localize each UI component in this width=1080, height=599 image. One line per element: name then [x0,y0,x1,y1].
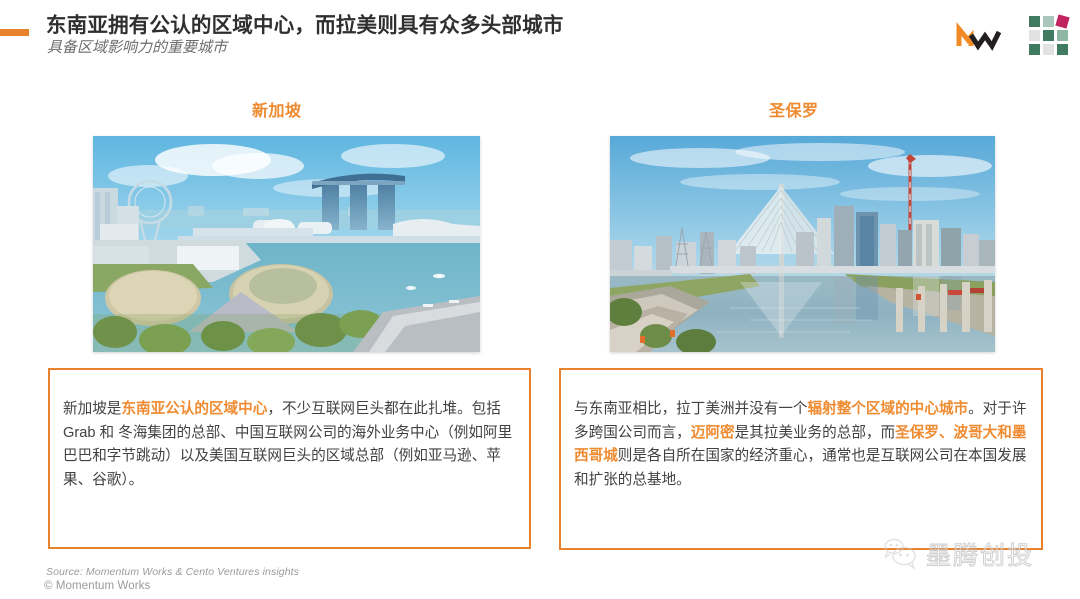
body-text-run: 新加坡是 [63,401,121,417]
copyright-note: © Momentum Works [44,580,150,592]
grid-cell-4 [1029,30,1040,41]
body-text-run: 是其拉美业务的总部，而 [735,425,896,441]
header-accent-bar [0,29,29,36]
brand-grid-icon [1029,16,1068,55]
callout-box-singapore: 新加坡是东南亚公认的区域中心，不少互联网巨头都在此扎堆。包括 Grab 和 冬海… [48,368,531,549]
grid-cell-7 [1029,44,1040,55]
body-text-run: 则是各自所在国家的经济重心，通常也是互联网公司在本国发展和扩张的总基地。 [574,448,1026,488]
grid-cell-9 [1057,44,1068,55]
page-title: 东南亚拥有公认的区域中心，而拉美则具有众多头部城市 [46,8,564,38]
source-note: Source: Momentum Works & Cento Ventures … [46,566,299,578]
photo-singapore [93,136,480,352]
callout-text-saopaulo: 与东南亚相比，拉丁美洲并没有一个辐射整个区域的中心城市。对于许多跨国公司而言，迈… [561,398,1041,493]
momentum-works-wordmark-icon [956,21,1008,51]
body-text-run: 与东南亚相比，拉丁美洲并没有一个 [574,401,808,417]
grid-cell-1 [1029,16,1040,27]
callout-text-singapore: 新加坡是东南亚公认的区域中心，不少互联网巨头都在此扎堆。包括 Grab 和 冬海… [50,398,529,493]
highlighted-phrase: 迈阿密 [691,425,735,441]
column-heading-saopaulo: 圣保罗 [769,97,819,121]
page-subtitle: 具备区域影响力的重要城市 [47,36,227,57]
grid-cell-5 [1043,30,1054,41]
callout-box-saopaulo: 与东南亚相比，拉丁美洲并没有一个辐射整个区域的中心城市。对于许多跨国公司而言，迈… [559,368,1043,550]
grid-cell-3 [1055,14,1069,28]
grid-cell-6 [1057,30,1068,41]
column-heading-singapore: 新加坡 [252,97,302,121]
grid-cell-2 [1043,16,1054,27]
highlighted-phrase: 辐射整个区域的中心城市 [808,401,969,417]
highlighted-phrase: 东南亚公认的区域中心 [121,401,267,417]
brand-logo [956,16,1068,55]
photo-sao-paulo [610,136,995,352]
grid-cell-8 [1043,44,1054,55]
